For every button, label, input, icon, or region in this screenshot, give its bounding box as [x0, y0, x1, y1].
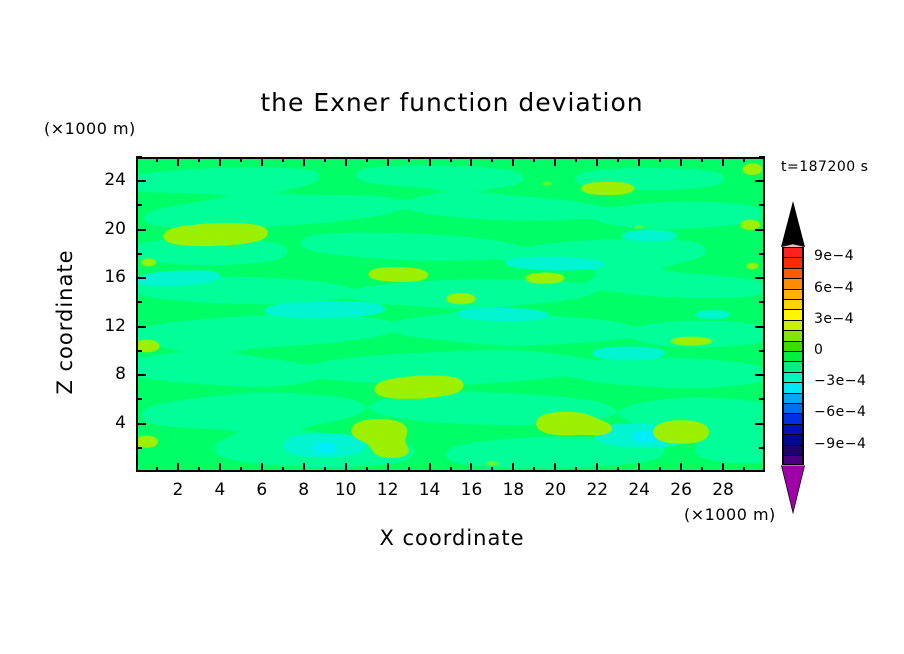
x-minor-tick-top	[198, 157, 200, 162]
x-minor-tick	[533, 467, 535, 472]
y-minor-tick-right	[759, 253, 765, 255]
x-tick-mark-top	[512, 157, 514, 166]
colorbar-segment	[782, 341, 804, 351]
x-minor-tick-top	[324, 157, 326, 162]
x-minor-tick-top	[491, 157, 493, 162]
colorbar-segment	[782, 299, 804, 309]
colorbar-segment	[782, 445, 804, 455]
x-minor-tick-top	[743, 157, 745, 162]
y-minor-tick-right	[759, 350, 765, 352]
colorbar-segment	[782, 330, 804, 340]
colorbar-segment	[782, 393, 804, 403]
colorbar-tick-label: 9e−4	[814, 248, 894, 264]
y-tick-mark-right	[755, 180, 765, 182]
y-tick-mark	[136, 229, 146, 231]
x-tick-mark-top	[345, 157, 347, 166]
x-tick-mark-top	[680, 157, 682, 166]
x-axis-units-label: (×1000 m)	[684, 505, 776, 524]
y-tick-mark-right	[755, 229, 765, 231]
y-minor-tick-right	[759, 204, 765, 206]
x-tick-mark-top	[177, 157, 179, 166]
x-minor-tick-top	[450, 157, 452, 162]
y-minor-tick	[136, 350, 142, 352]
y-minor-tick	[136, 204, 142, 206]
y-tick-mark	[136, 277, 146, 279]
x-minor-tick	[659, 467, 661, 472]
colorbar-segment	[782, 424, 804, 434]
colorbar-tick-label: −6e−4	[814, 404, 894, 420]
colorbar-segment	[782, 320, 804, 330]
x-tick-mark	[177, 463, 179, 472]
x-tick-mark-top	[722, 157, 724, 166]
colorbar-segment	[782, 413, 804, 423]
x-tick-mark	[470, 463, 472, 472]
x-tick-mark-top	[261, 157, 263, 166]
x-minor-tick	[156, 467, 158, 472]
y-minor-tick	[136, 253, 142, 255]
colorbar-segment	[782, 372, 804, 382]
x-minor-tick	[408, 467, 410, 472]
x-minor-tick-top	[156, 157, 158, 162]
x-tick-mark	[429, 463, 431, 472]
colorbar-segment	[782, 455, 804, 465]
y-minor-tick-right	[759, 398, 765, 400]
x-tick-mark	[303, 463, 305, 472]
x-tick-mark-top	[596, 157, 598, 166]
y-minor-tick	[136, 447, 142, 449]
x-axis-title: X coordinate	[0, 526, 904, 550]
x-minor-tick	[701, 467, 703, 472]
colorbar-tick-label: −3e−4	[814, 373, 894, 389]
x-minor-tick	[743, 467, 745, 472]
x-minor-tick-top	[533, 157, 535, 162]
x-tick-mark	[512, 463, 514, 472]
x-minor-tick	[491, 467, 493, 472]
x-tick-mark-top	[638, 157, 640, 166]
x-minor-tick-top	[240, 157, 242, 162]
x-tick-mark	[638, 463, 640, 472]
y-tick-mark	[136, 326, 146, 328]
x-minor-tick	[240, 467, 242, 472]
colorbar-under-arrow	[782, 465, 804, 513]
x-minor-tick-top	[701, 157, 703, 162]
chart-title: the Exner function deviation	[0, 88, 904, 117]
colorbar-segment	[782, 289, 804, 299]
contour-plot-area	[136, 157, 765, 472]
colorbar-segment	[782, 268, 804, 278]
y-minor-tick	[136, 301, 142, 303]
x-tick-mark-top	[303, 157, 305, 166]
x-tick-mark-top	[470, 157, 472, 166]
y-minor-tick	[136, 156, 142, 158]
x-minor-tick	[617, 467, 619, 472]
x-tick-mark	[596, 463, 598, 472]
time-annotation: t=187200 s	[781, 159, 868, 175]
x-minor-tick-top	[366, 157, 368, 162]
x-tick-mark-top	[219, 157, 221, 166]
x-tick-mark	[722, 463, 724, 472]
y-tick-mark	[136, 423, 146, 425]
colorbar-segment	[782, 351, 804, 361]
y-tick-mark	[136, 374, 146, 376]
y-minor-tick	[136, 398, 142, 400]
y-minor-tick-right	[759, 447, 765, 449]
x-minor-tick-top	[408, 157, 410, 162]
y-tick-mark-right	[755, 277, 765, 279]
y-tick-mark	[136, 180, 146, 182]
colorbar-segment	[782, 257, 804, 267]
colorbar-segment	[782, 361, 804, 371]
x-minor-tick-top	[575, 157, 577, 162]
colorbar-tick-label: 3e−4	[814, 311, 894, 327]
x-tick-mark	[219, 463, 221, 472]
colorbar-tick-label: 0	[814, 342, 894, 358]
y-axis-units-label: (×1000 m)	[44, 119, 136, 138]
colorbar-segment	[782, 247, 804, 257]
contour-field	[136, 157, 765, 472]
x-minor-tick	[450, 467, 452, 472]
y-tick-label: 24	[68, 170, 126, 190]
x-tick-mark	[680, 463, 682, 472]
x-minor-tick	[198, 467, 200, 472]
x-tick-mark-top	[554, 157, 556, 166]
colorbar-tick-label: −9e−4	[814, 436, 894, 452]
x-minor-tick	[366, 467, 368, 472]
colorbar-segment	[782, 278, 804, 288]
x-tick-mark	[261, 463, 263, 472]
x-tick-mark	[345, 463, 347, 472]
y-axis-title: Z coordinate	[53, 212, 77, 432]
y-minor-tick-right	[759, 301, 765, 303]
y-minor-tick-right	[759, 156, 765, 158]
colorbar-over-arrow-outline	[781, 201, 805, 247]
x-tick-label: 28	[698, 480, 748, 500]
x-minor-tick-top	[659, 157, 661, 162]
x-tick-mark	[554, 463, 556, 472]
x-minor-tick-top	[617, 157, 619, 162]
colorbar-segment	[782, 403, 804, 413]
colorbar-tick-label: 6e−4	[814, 280, 894, 296]
colorbar-segment	[782, 434, 804, 444]
x-minor-tick-top	[282, 157, 284, 162]
y-tick-mark-right	[755, 326, 765, 328]
x-tick-mark-top	[429, 157, 431, 166]
x-minor-tick	[282, 467, 284, 472]
x-minor-tick	[324, 467, 326, 472]
colorbar-segment	[782, 309, 804, 319]
y-tick-mark-right	[755, 423, 765, 425]
x-tick-mark-top	[387, 157, 389, 166]
x-tick-mark	[387, 463, 389, 472]
x-minor-tick	[575, 467, 577, 472]
colorbar-segment	[782, 382, 804, 392]
y-tick-mark-right	[755, 374, 765, 376]
